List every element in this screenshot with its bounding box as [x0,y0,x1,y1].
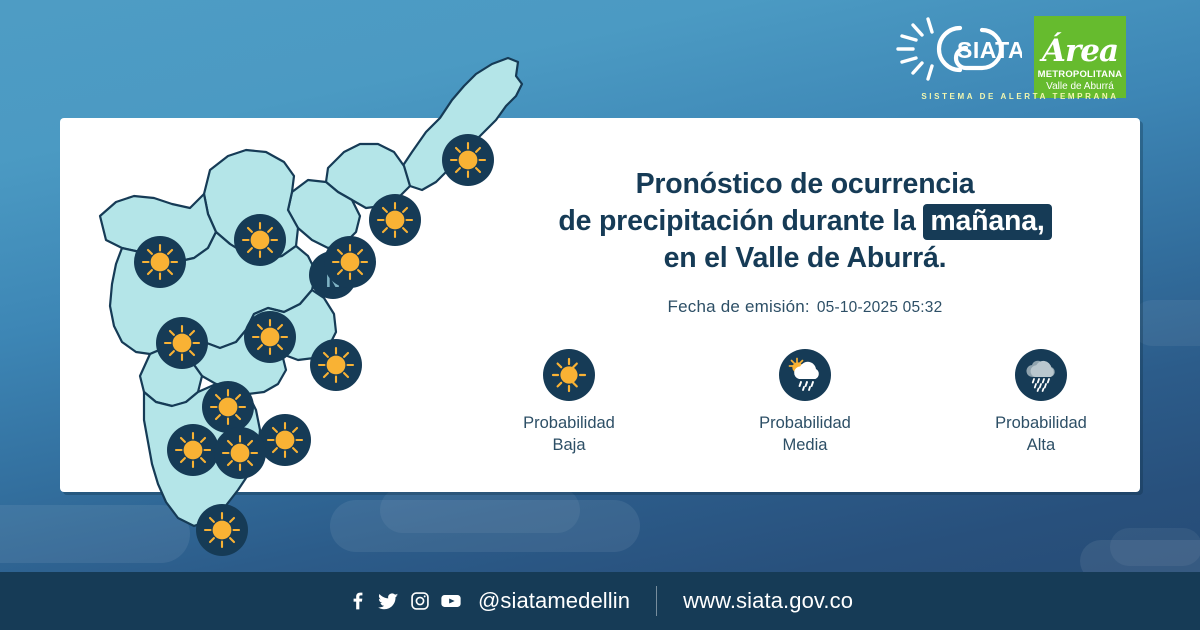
title-line-3: en el Valle de Aburrá. [558,240,1051,277]
infographic-canvas: SIATA Área METROPOLITANA Valle de Aburrá… [0,0,1200,630]
background-cloud-upper-right [1130,300,1200,346]
legend-item-alta: Probabilidad Alta [966,349,1116,456]
facebook-icon[interactable] [347,590,369,612]
probability-legend: Probabilidad Baja [494,349,1116,456]
legend-label-line1: Probabilidad [759,413,851,434]
footer-bar: @siatamedellin www.siata.gov.co [0,572,1200,630]
svg-text:SIATA: SIATA [957,37,1022,63]
emission-date: Fecha de emisión: 05-10-2025 05:32 [668,297,943,317]
sun-cloud-rain-icon [779,349,831,401]
title-line-1: Pronóstico de ocurrencia [558,166,1051,203]
legend-label-media: Probabilidad Media [759,413,851,456]
area-wordmark: Área [1042,36,1118,67]
cloud-heavy-rain-icon [1015,349,1067,401]
map-marker-sun [167,424,219,476]
map-marker-sun [244,311,296,363]
background-cloud-right-top [1110,528,1200,566]
page-title: Pronóstico de ocurrencia de precipitació… [558,166,1051,277]
title-line-2-text: de precipitación durante la [558,205,923,237]
map-marker-sun [369,194,421,246]
valle-de-aburra-map: N [60,40,540,580]
area-metropolitana-logo: Área METROPOLITANA Valle de Aburrá [1034,16,1126,98]
map-marker-sun [214,427,266,479]
legend-label-line1: Probabilidad [995,413,1087,434]
logo-bar: SIATA Área METROPOLITANA Valle de Aburrá [894,16,1126,98]
footer-divider [656,586,657,616]
legend-item-baja: Probabilidad Baja [494,349,644,456]
title-line-2: de precipitación durante la mañana, [558,203,1051,240]
legend-label-line2: Media [759,435,851,456]
map-marker-sun [259,414,311,466]
legend-label-alta: Probabilidad Alta [995,413,1087,456]
map-marker-sun [234,214,286,266]
map-marker-sun [310,339,362,391]
map-marker-sun [134,236,186,288]
social-handle[interactable]: @siatamedellin [478,588,630,614]
map-marker-sun [324,236,376,288]
social-links [347,590,462,612]
map-marker-sun [196,504,248,556]
youtube-icon[interactable] [440,590,462,612]
siata-tagline: SISTEMA DE ALERTA TEMPRANA [914,92,1126,101]
area-line1: METROPOLITANA [1038,70,1123,81]
emission-date-value: 05-10-2025 05:32 [817,299,943,317]
legend-item-media: Probabilidad Media [730,349,880,456]
legend-label-line2: Baja [523,435,615,456]
map-marker-sun [156,317,208,369]
legend-label-baja: Probabilidad Baja [523,413,615,456]
legend-label-line1: Probabilidad [523,413,615,434]
instagram-icon[interactable] [409,590,431,612]
municipality-polygons [100,58,522,526]
sun-icon [543,349,595,401]
twitter-icon[interactable] [378,590,400,612]
legend-label-line2: Alta [995,435,1087,456]
emission-date-label: Fecha de emisión: [668,297,810,317]
siata-logo: SIATA [894,16,1022,82]
website-url[interactable]: www.siata.gov.co [683,588,853,614]
forecast-content: Pronóstico de ocurrencia de precipitació… [470,118,1140,492]
map-marker-sun [202,381,254,433]
title-highlight-manana: mañana, [923,204,1051,240]
